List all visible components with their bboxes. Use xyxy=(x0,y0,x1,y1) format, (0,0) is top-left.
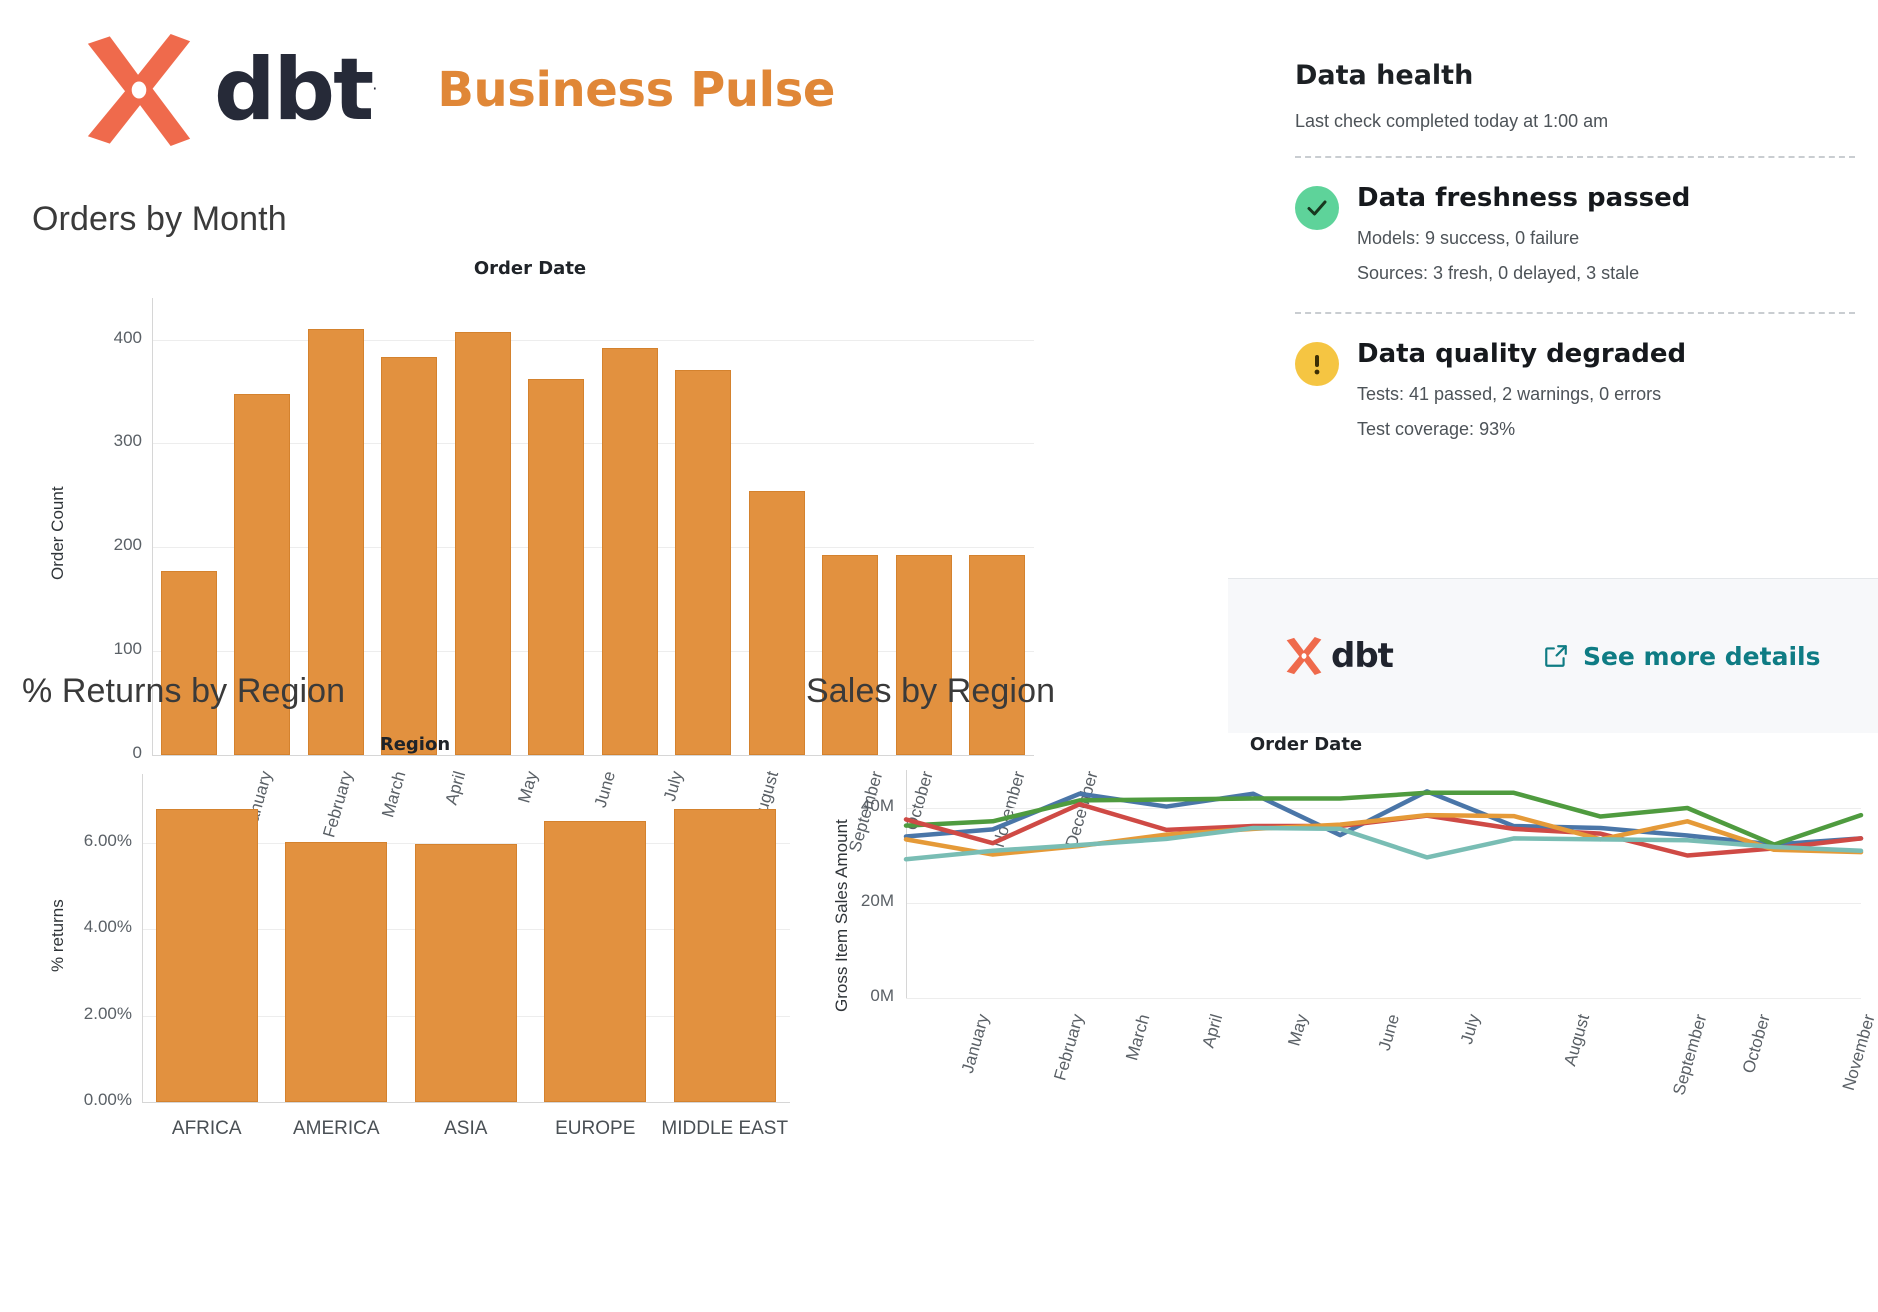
bar[interactable] xyxy=(381,357,437,755)
health-item-body: Data quality degraded Tests: 41 passed, … xyxy=(1357,340,1855,440)
x-category-label: August xyxy=(1560,1012,1594,1068)
y-axis-line xyxy=(906,770,907,998)
dbt-wordmark-small: dbt xyxy=(1331,636,1393,676)
bar[interactable] xyxy=(674,809,776,1102)
orders-panel-title: Orders by Month xyxy=(32,200,287,239)
x-category-label: October xyxy=(1739,1012,1775,1076)
orders-by-month-chart[interactable]: Order Date Order Count 0100200300400Janu… xyxy=(30,250,1030,640)
x-category-label: June xyxy=(1375,1012,1404,1053)
divider-2 xyxy=(1295,312,1855,314)
orders-plot-area: 0100200300400JanuaryFebruaryMarchAprilMa… xyxy=(30,250,1030,640)
data-health-title: Data health xyxy=(1295,60,1855,91)
gridline xyxy=(906,903,1861,904)
line-series xyxy=(906,815,1861,854)
health-item-line: Sources: 3 fresh, 0 delayed, 3 stale xyxy=(1357,263,1855,284)
line-series xyxy=(906,804,1861,855)
health-item-heading: Data freshness passed xyxy=(1357,184,1855,214)
y-tick-label: 0M xyxy=(828,986,894,1006)
line-series xyxy=(906,828,1861,859)
check-glyph xyxy=(1305,196,1329,220)
y-tick-label: 200 xyxy=(60,535,142,555)
data-health-footer-card: dbt See more details xyxy=(1228,578,1878,733)
returns-panel-title: % Returns by Region xyxy=(22,672,345,711)
gridline xyxy=(906,998,1861,999)
y-axis-line xyxy=(142,774,143,1102)
y-tick-label: 100 xyxy=(60,639,142,659)
y-tick-label: 40M xyxy=(828,796,894,816)
dbt-wordmark: dbt. xyxy=(214,47,375,133)
x-category-label: MIDDLE EAST xyxy=(635,1118,815,1140)
see-more-details-link[interactable]: See more details xyxy=(1543,642,1821,671)
y-tick-label: 400 xyxy=(60,328,142,348)
y-tick-label: 2.00% xyxy=(50,1004,132,1024)
x-category-label: May xyxy=(1285,1012,1313,1048)
health-item-line: Test coverage: 93% xyxy=(1357,419,1855,440)
bar[interactable] xyxy=(602,348,658,755)
line-series xyxy=(906,791,1861,844)
bar[interactable] xyxy=(455,332,511,755)
dbt-x-mark-icon xyxy=(78,34,200,146)
sales-by-region-chart[interactable]: Order Date Gross Item Sales Amount 0M20M… xyxy=(806,722,1866,1112)
bar[interactable] xyxy=(285,842,387,1102)
sales-plot-area: 0M20M40MJanuaryFebruaryMarchAprilMayJune… xyxy=(806,722,1866,1112)
x-category-label: March xyxy=(1122,1012,1154,1063)
data-health-panel: Data health Last check completed today a… xyxy=(1295,60,1855,440)
warning-circle-icon xyxy=(1295,342,1339,386)
health-item-quality[interactable]: Data quality degraded Tests: 41 passed, … xyxy=(1295,340,1855,440)
y-tick-label: 6.00% xyxy=(50,831,132,851)
bar[interactable] xyxy=(749,491,805,755)
check-circle-icon xyxy=(1295,186,1339,230)
dbt-x-mark-icon xyxy=(1283,637,1325,675)
y-tick-label: 300 xyxy=(60,431,142,451)
dbt-logo-small: dbt xyxy=(1283,636,1393,676)
x-category-label: April xyxy=(1199,1012,1228,1050)
bar[interactable] xyxy=(675,370,731,755)
dbt-logo: dbt. xyxy=(78,34,375,146)
health-item-heading: Data quality degraded xyxy=(1357,340,1855,370)
x-category-label: July xyxy=(1457,1012,1485,1047)
line-series xyxy=(906,793,1861,845)
health-item-freshness[interactable]: Data freshness passed Models: 9 success,… xyxy=(1295,184,1855,284)
dashboard-header: dbt. Business Pulse xyxy=(78,34,835,146)
exclamation-glyph xyxy=(1307,351,1327,377)
gridline xyxy=(906,808,1861,809)
y-tick-label: 4.00% xyxy=(50,917,132,937)
page-title: Business Pulse xyxy=(437,62,835,118)
bar[interactable] xyxy=(415,844,517,1102)
dbt-trademark: . xyxy=(372,74,375,93)
data-health-subtitle: Last check completed today at 1:00 am xyxy=(1295,111,1855,132)
x-category-label: January xyxy=(958,1012,994,1076)
sales-panel-title: Sales by Region xyxy=(806,672,1055,711)
x-axis-line xyxy=(142,1102,790,1103)
bar[interactable] xyxy=(544,821,646,1102)
x-category-label: November xyxy=(1839,1012,1878,1093)
divider-1 xyxy=(1295,156,1855,158)
gridline xyxy=(152,340,1034,341)
dashboard-page: dbt. Business Pulse Orders by Month Orde… xyxy=(0,0,1878,1312)
external-link-icon xyxy=(1543,643,1569,669)
x-category-label: February xyxy=(1050,1012,1088,1083)
x-category-label: September xyxy=(1669,1012,1711,1097)
returns-plot-area: 0.00%2.00%4.00%6.00%AFRICAAMERICAASIAEUR… xyxy=(20,722,810,1112)
returns-by-region-chart[interactable]: Region % returns 0.00%2.00%4.00%6.00%AFR… xyxy=(20,722,810,1112)
y-tick-label: 0.00% xyxy=(50,1090,132,1110)
health-item-line: Models: 9 success, 0 failure xyxy=(1357,228,1855,249)
y-tick-label: 20M xyxy=(828,891,894,911)
health-item-line: Tests: 41 passed, 2 warnings, 0 errors xyxy=(1357,384,1855,405)
bar[interactable] xyxy=(528,379,584,755)
bar[interactable] xyxy=(156,809,258,1102)
see-more-details-label: See more details xyxy=(1583,642,1821,671)
health-item-body: Data freshness passed Models: 9 success,… xyxy=(1357,184,1855,284)
